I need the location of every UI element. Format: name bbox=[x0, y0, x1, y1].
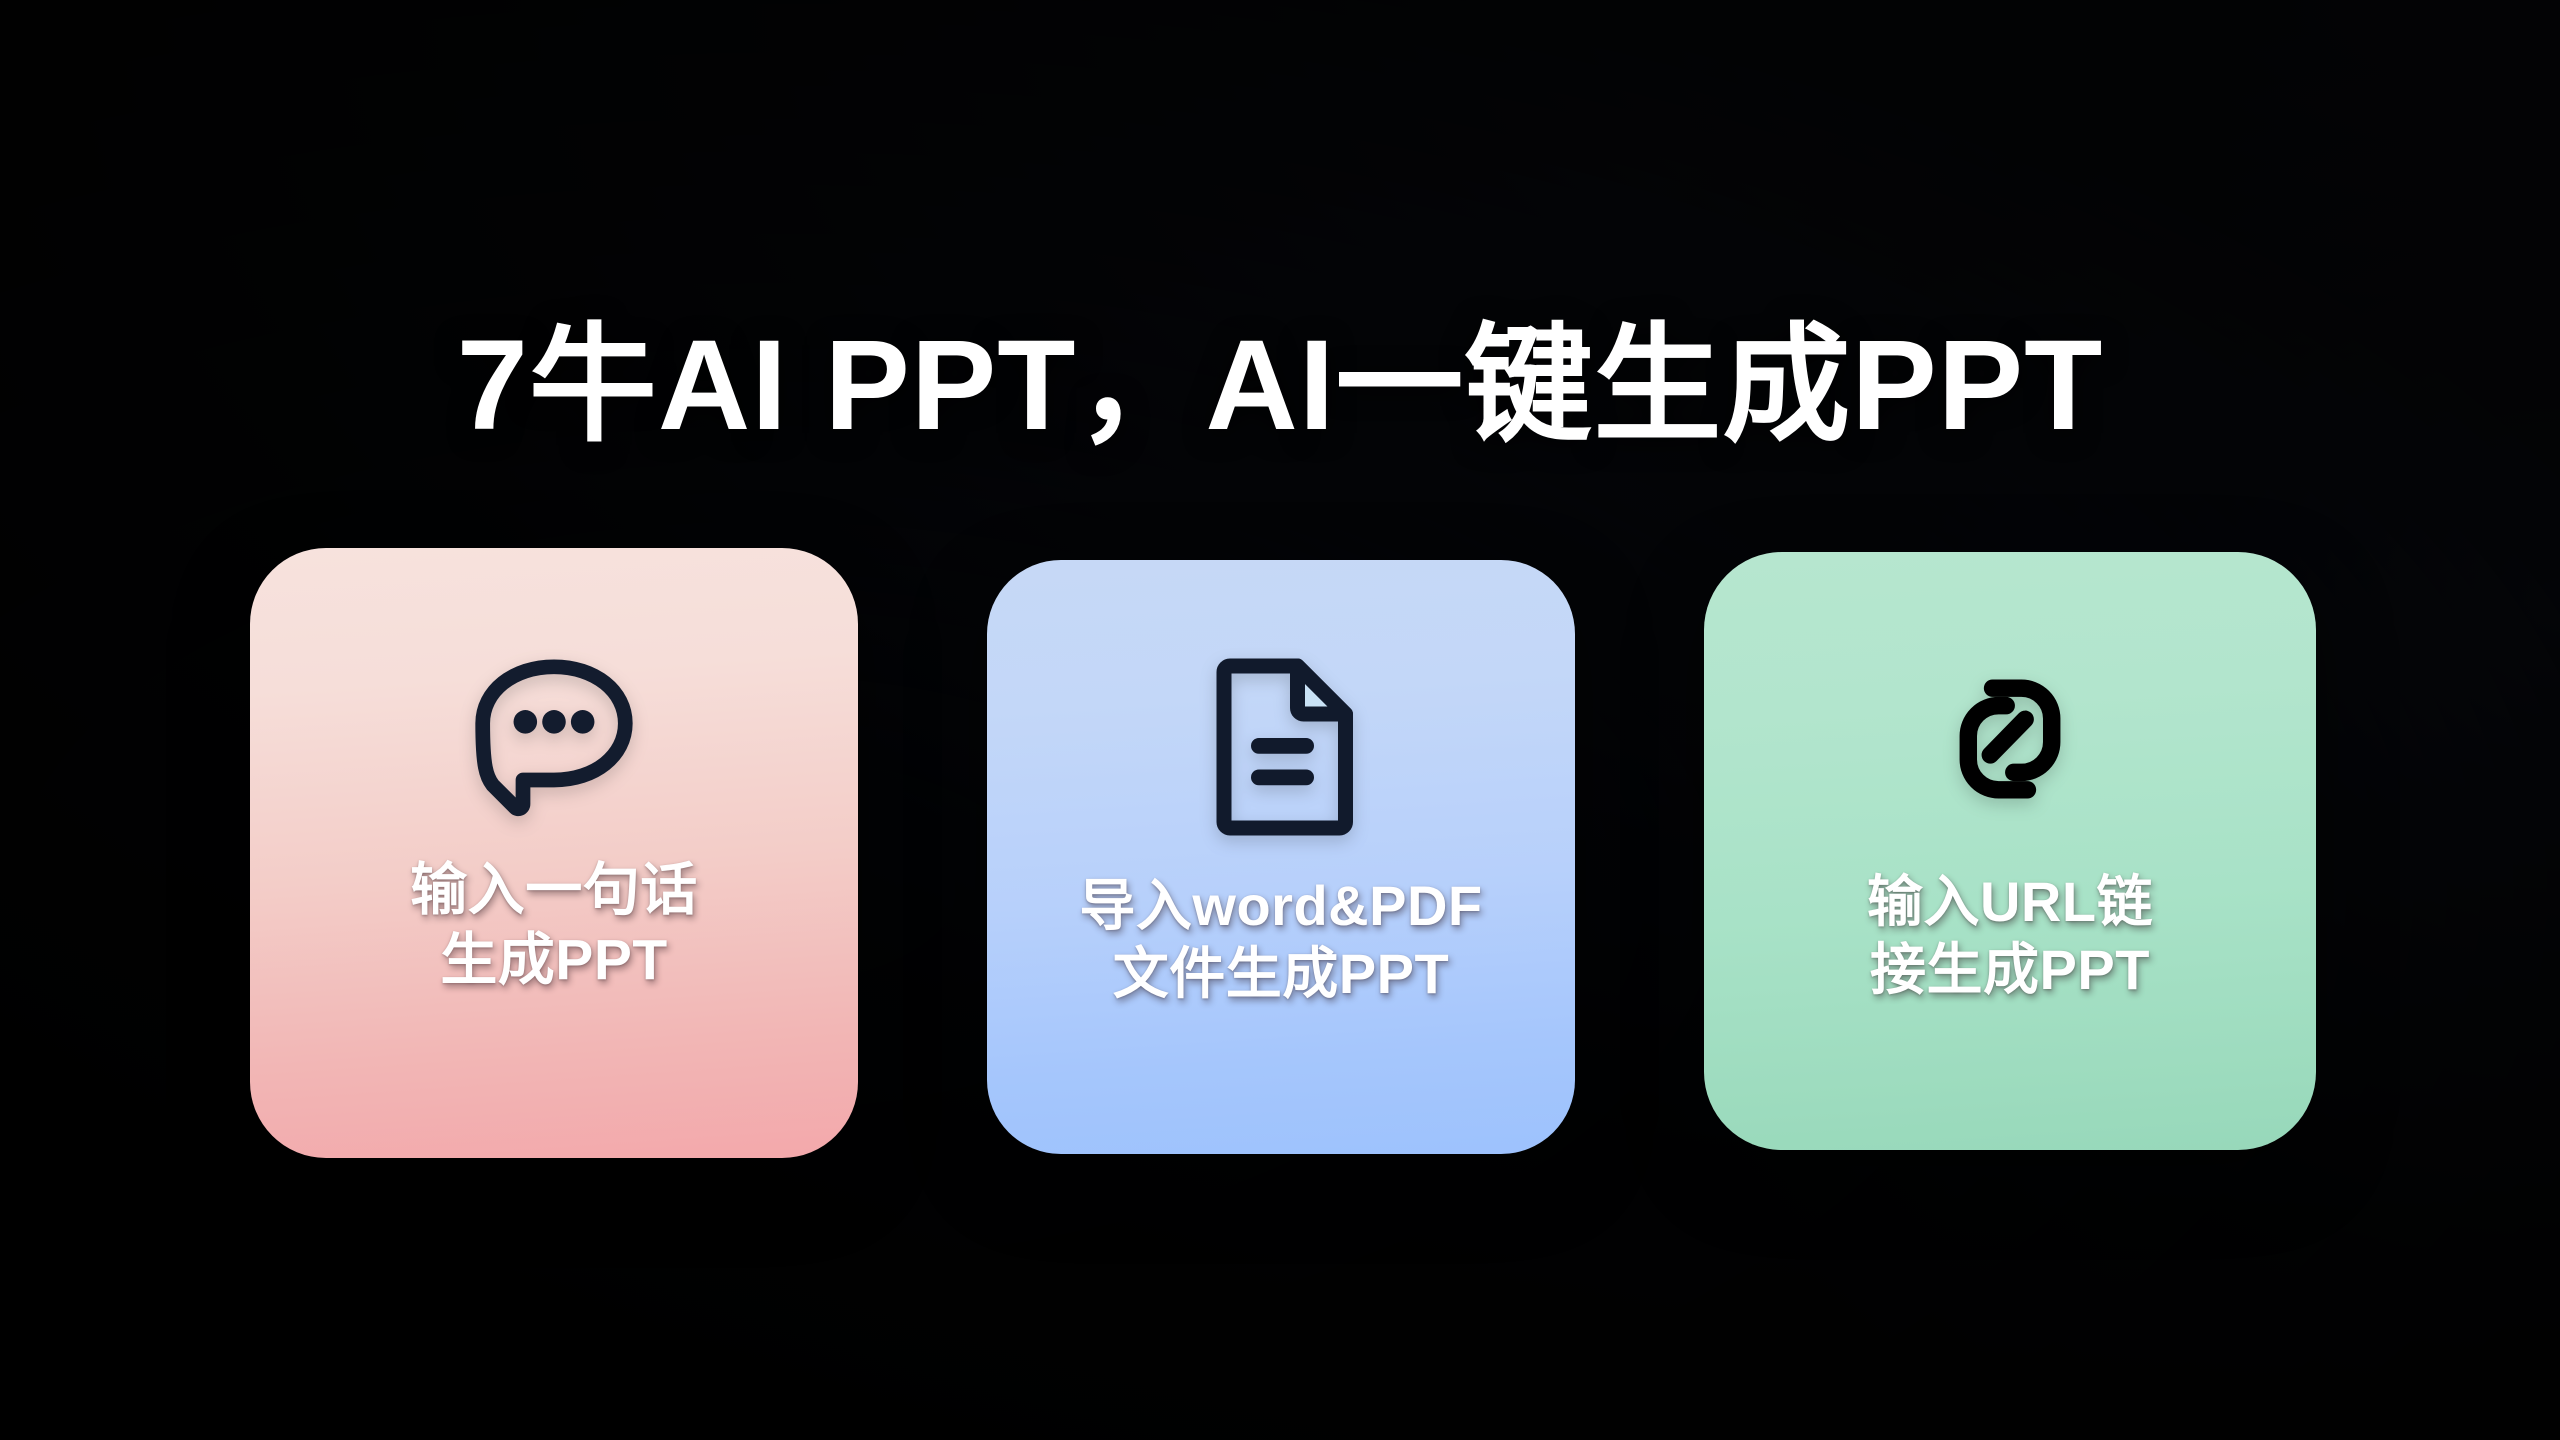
chain-link-icon bbox=[1915, 644, 2105, 834]
feature-card-label: 输入URL链 接生成PPT bbox=[1704, 868, 2316, 1005]
feature-card-url-link[interactable]: 输入URL链 接生成PPT bbox=[1704, 552, 2316, 1150]
slide-root: 7牛AI PPT，AI一键生成PPT 输入一句话 生成PPT bbox=[0, 0, 2560, 1440]
page-title: 7牛AI PPT，AI一键生成PPT bbox=[0, 314, 2560, 457]
feature-card-label-line1: 输入一句话 bbox=[410, 858, 698, 922]
feature-card-label-line2: 生成PPT bbox=[250, 926, 858, 996]
chat-bubble-dots-icon bbox=[459, 640, 649, 830]
feature-card-row: 输入一句话 生成PPT 导入word&PDF 文件生成PPT bbox=[250, 548, 2316, 1160]
document-lines-icon bbox=[1186, 652, 1376, 842]
feature-card-label-line2: 文件生成PPT bbox=[987, 940, 1575, 1008]
feature-card-label-line1: 导入word&PDF bbox=[1079, 874, 1482, 937]
feature-card-label-line1: 输入URL链 bbox=[1867, 870, 2153, 933]
feature-card-import-document[interactable]: 导入word&PDF 文件生成PPT bbox=[987, 560, 1575, 1154]
feature-card-label-line2: 接生成PPT bbox=[1704, 936, 2316, 1004]
feature-card-label: 导入word&PDF 文件生成PPT bbox=[987, 872, 1575, 1009]
feature-card-one-sentence[interactable]: 输入一句话 生成PPT bbox=[250, 548, 858, 1158]
feature-card-label: 输入一句话 生成PPT bbox=[250, 856, 858, 995]
